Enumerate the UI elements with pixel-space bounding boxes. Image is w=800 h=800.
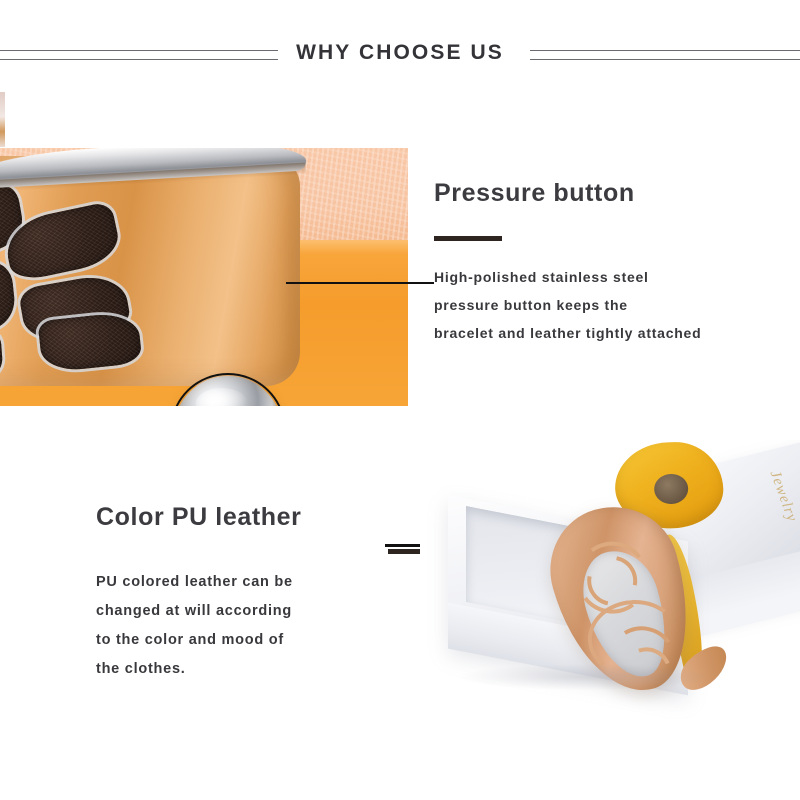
body-line: PU colored leather can be	[96, 568, 426, 597]
product-photo-pressure-button	[0, 148, 408, 406]
page-title: WHY CHOOSE US	[0, 38, 800, 68]
body-line: bracelet and leather tightly attached	[434, 319, 794, 347]
body-line: pressure button keeps the	[434, 291, 794, 319]
bracelet-cuff-body	[0, 156, 300, 386]
edge-sliver-decoration	[0, 92, 5, 147]
body-line: High-polished stainless steel	[434, 263, 794, 291]
section-body-color-pu-leather: PU colored leather can be changed at wil…	[96, 568, 426, 684]
section-heading-pressure-button: Pressure button	[434, 176, 794, 210]
body-line: to the color and mood of	[96, 626, 426, 655]
page-header: WHY CHOOSE US	[0, 38, 800, 80]
section-heading-rule-1	[434, 236, 502, 241]
leather-inlay-5	[38, 311, 143, 373]
leather-inlay-6	[0, 330, 4, 382]
section-heading-color-pu-leather: Color PU leather	[96, 500, 426, 534]
callout-leader-line-1	[286, 282, 434, 284]
section-body-pressure-button: High-polished stainless steel pressure b…	[434, 263, 794, 347]
product-photo-color-pu-leather: Jewelry	[420, 440, 800, 740]
gift-box-drop-shadow	[460, 664, 710, 690]
body-line: changed at will according	[96, 597, 426, 626]
product-feature-page: WHY CHOOSE US Pressure button High-polis…	[0, 0, 800, 800]
section-pressure-button-text: Pressure button High-polished stainless …	[434, 176, 794, 347]
section-color-pu-leather-text: Color PU leather PU colored leather can …	[96, 500, 426, 684]
body-line: the clothes.	[96, 655, 426, 684]
